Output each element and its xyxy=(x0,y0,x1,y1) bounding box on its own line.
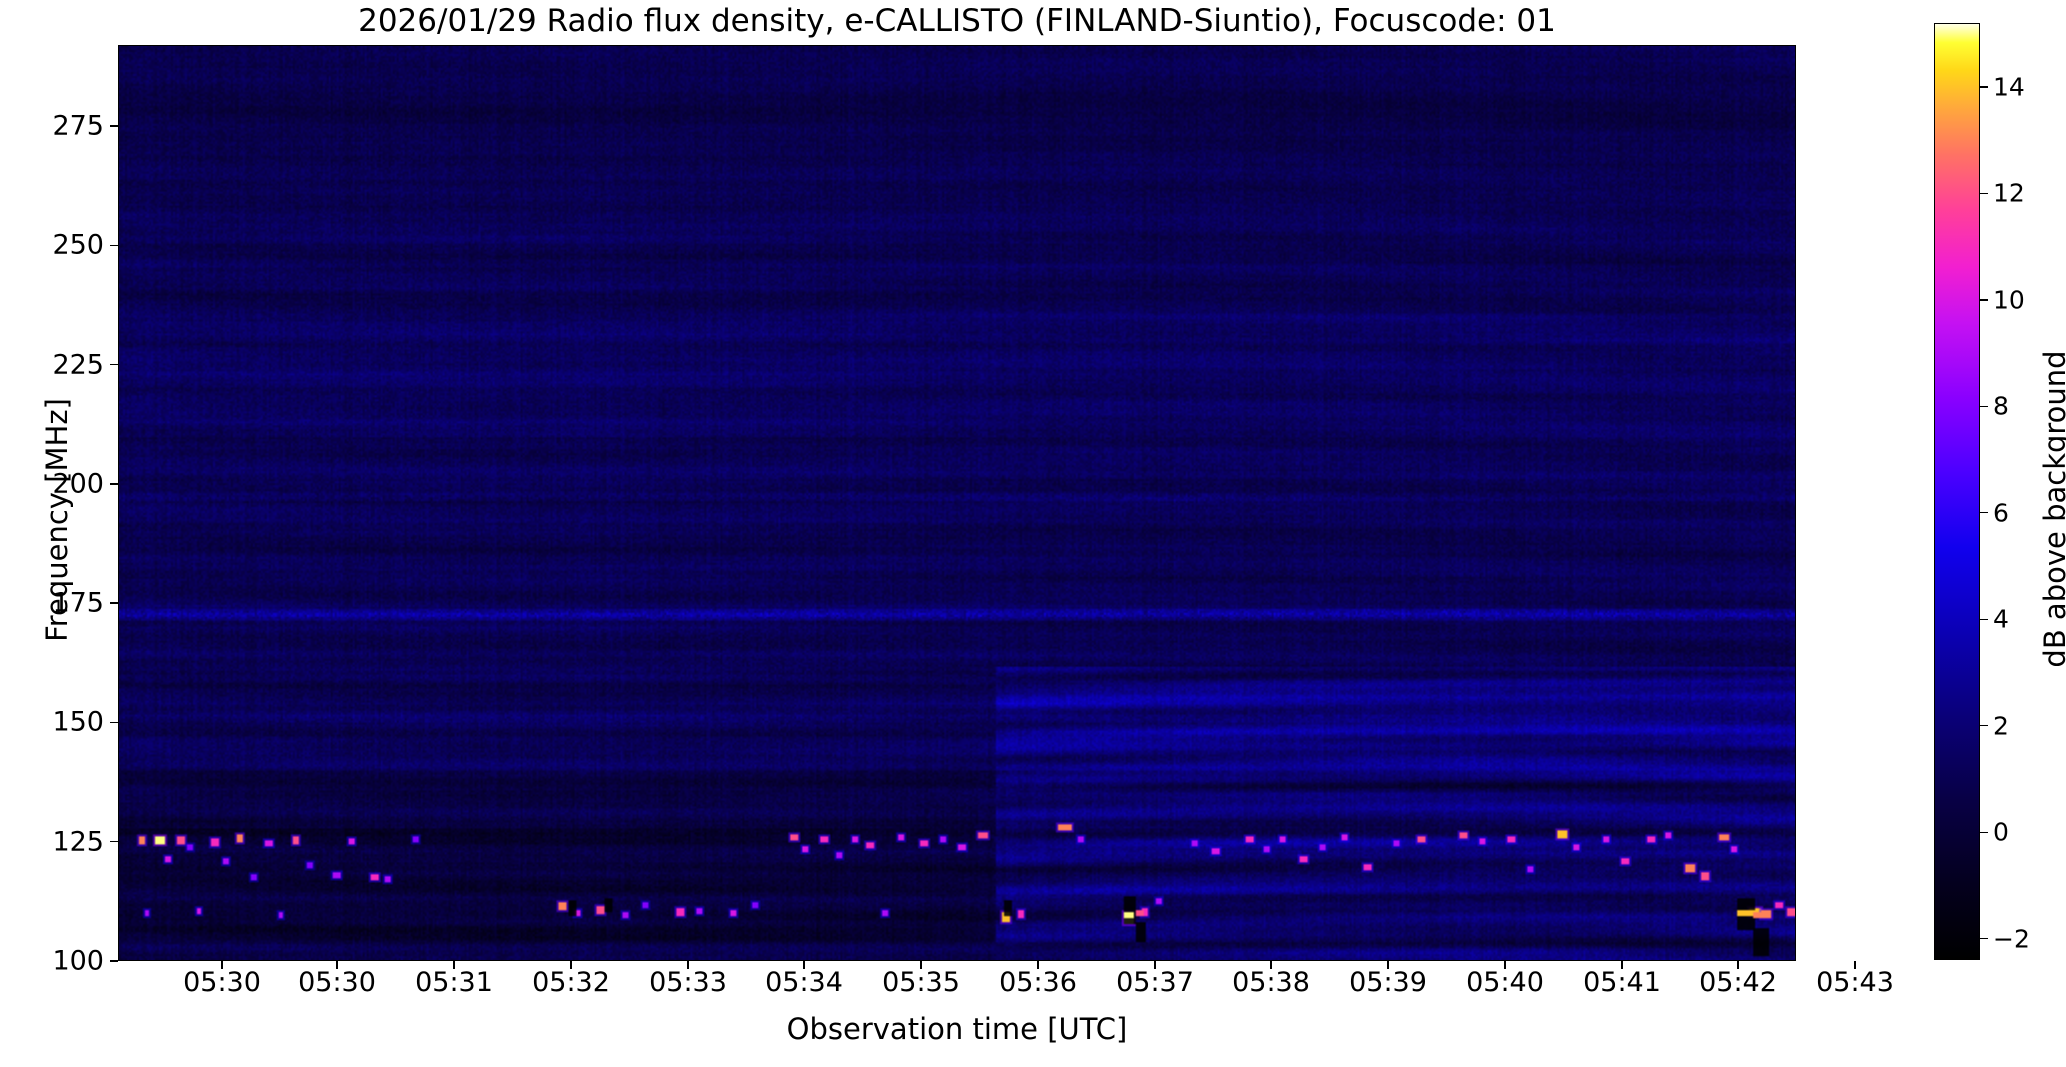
y-tick-mark xyxy=(110,483,118,484)
x-tick-mark xyxy=(687,961,688,969)
x-tick-mark xyxy=(1621,961,1622,969)
colorbar[interactable] xyxy=(1934,23,1980,960)
page-title: 2026/01/29 Radio flux density, e-CALLIST… xyxy=(118,4,1796,38)
colorbar-tick-mark xyxy=(1980,725,1988,726)
colorbar-tick-label: −2 xyxy=(1993,924,2030,953)
colorbar-tick-mark xyxy=(1980,512,1988,513)
y-tick-mark xyxy=(110,364,118,365)
x-tick-mark xyxy=(1270,961,1271,969)
x-tick-label: 05:37 xyxy=(1116,967,1194,998)
x-tick-label: 05:31 xyxy=(415,967,493,998)
y-tick-label: 100 xyxy=(0,946,104,977)
colorbar-tick-label: 2 xyxy=(1993,711,2009,740)
x-tick-label: 05:33 xyxy=(649,967,727,998)
colorbar-tick-mark xyxy=(1980,193,1988,194)
colorbar-tick-mark xyxy=(1980,938,1988,939)
y-tick-mark xyxy=(110,125,118,126)
y-tick-mark xyxy=(110,722,118,723)
x-tick-mark xyxy=(336,961,337,969)
colorbar-gradient xyxy=(1935,24,1979,959)
colorbar-label: dB above background xyxy=(2038,159,2066,859)
colorbar-tick-label: 12 xyxy=(1993,179,2025,208)
colorbar-tick-mark xyxy=(1980,832,1988,833)
x-tick-mark xyxy=(570,961,571,969)
x-tick-mark xyxy=(1037,961,1038,969)
colorbar-tick-label: 6 xyxy=(1993,498,2009,527)
colorbar-tick-label: 8 xyxy=(1993,392,2009,421)
x-tick-label: 05:30 xyxy=(298,967,376,998)
y-tick-label: 275 xyxy=(0,111,104,142)
x-tick-label: 05:38 xyxy=(1232,967,1310,998)
x-tick-label: 05:35 xyxy=(882,967,960,998)
x-tick-mark xyxy=(1154,961,1155,969)
x-tick-label: 05:40 xyxy=(1466,967,1544,998)
x-tick-label: 05:32 xyxy=(532,967,610,998)
x-tick-mark xyxy=(1387,961,1388,969)
x-tick-mark xyxy=(453,961,454,969)
colorbar-tick-label: 4 xyxy=(1993,605,2009,634)
spectrogram-axes[interactable] xyxy=(118,45,1796,961)
colorbar-tick-mark xyxy=(1980,86,1988,87)
x-tick-label: 05:42 xyxy=(1699,967,1777,998)
x-tick-mark xyxy=(1504,961,1505,969)
figure-canvas: 2026/01/29 Radio flux density, e-CALLIST… xyxy=(0,0,2066,1067)
y-tick-mark xyxy=(110,841,118,842)
y-tick-mark xyxy=(110,960,118,961)
spectrogram-image xyxy=(119,46,1795,960)
x-tick-label: 05:34 xyxy=(765,967,843,998)
colorbar-tick-label: 14 xyxy=(1993,72,2025,101)
y-tick-mark xyxy=(110,245,118,246)
colorbar-tick-mark xyxy=(1980,299,1988,300)
x-tick-label: 05:30 xyxy=(183,967,261,998)
x-tick-label: 05:36 xyxy=(999,967,1077,998)
y-axis-label: Frequency [MHz] xyxy=(40,170,74,870)
x-tick-label: 05:41 xyxy=(1583,967,1661,998)
colorbar-tick-label: 10 xyxy=(1993,285,2025,314)
x-tick-label: 05:43 xyxy=(1816,967,1894,998)
colorbar-tick-mark xyxy=(1980,619,1988,620)
x-tick-mark xyxy=(221,961,222,969)
colorbar-tick-label: 0 xyxy=(1993,818,2009,847)
colorbar-tick-mark xyxy=(1980,406,1988,407)
x-tick-mark xyxy=(1854,961,1855,969)
x-tick-mark xyxy=(920,961,921,969)
x-tick-label: 05:39 xyxy=(1349,967,1427,998)
x-tick-mark xyxy=(803,961,804,969)
x-tick-mark xyxy=(1737,961,1738,969)
x-axis-label: Observation time [UTC] xyxy=(118,1012,1796,1046)
y-tick-mark xyxy=(110,602,118,603)
